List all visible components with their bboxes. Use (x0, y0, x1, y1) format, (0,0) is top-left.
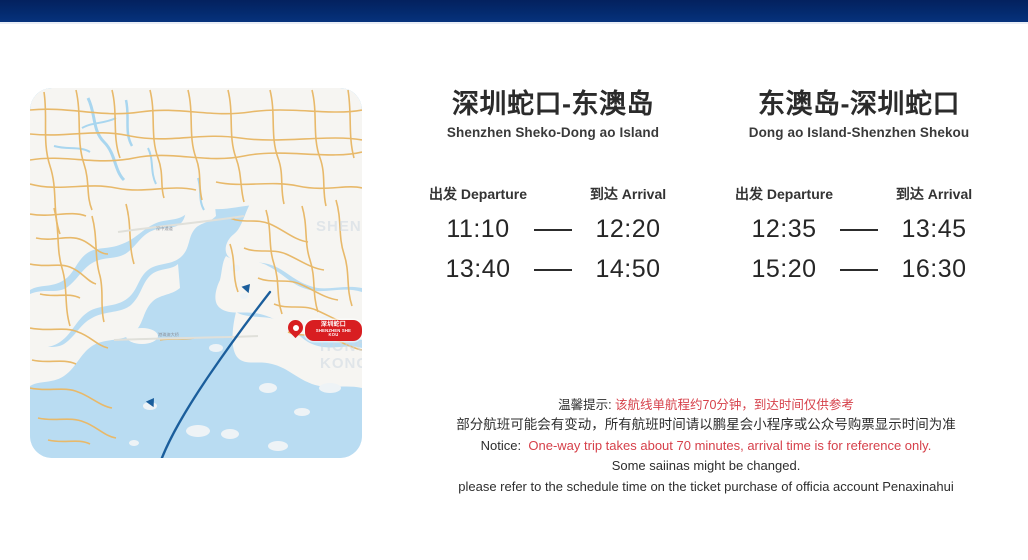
route-title-en-outbound: Shenzhen Sheko-Dong ao Island (400, 125, 706, 140)
top-bar-underline (0, 22, 1028, 24)
route-column-return: 东澳岛-深圳蛇口 Dong ao Island-Shenzhen Shekou … (706, 88, 1012, 284)
departure-header: 出发 Departure (423, 184, 533, 204)
route-title-en-return: Dong ao Island-Shenzhen Shekou (706, 125, 1012, 140)
departure-time: 12:35 (729, 215, 839, 244)
time-connector-icon (533, 269, 573, 271)
arrival-header: 到达 Arrival (879, 184, 989, 204)
time-connector-icon (839, 229, 879, 231)
notice-lead-en: Notice: (481, 438, 521, 453)
route-title-cn-outbound: 深圳蛇口-东澳岛 (400, 88, 706, 120)
notice-line-en-2: Some saiinas might be changed. (400, 456, 1012, 476)
marker-label-en: SHENZHEN SHE KOU (312, 329, 355, 338)
top-navy-bar (0, 0, 1028, 22)
map-pin-icon (288, 320, 303, 341)
schedule-table-return: 出发 Departure 到达 Arrival 12:35 13:45 15:2… (706, 184, 1012, 284)
schedule-row: 12:35 13:45 (706, 215, 1012, 244)
ferry-schedule-page: 深中通道 港珠澳大桥 SHENZHEN HONG KONG 深圳蛇口 SHENZ… (0, 0, 1028, 560)
arrival-time: 12:20 (573, 215, 683, 244)
notice-red-en: One-way trip takes about 70 minutes, arr… (528, 438, 931, 453)
time-connector-icon (533, 229, 573, 231)
departure-header: 出发 Departure (729, 184, 839, 204)
notice-line-cn-1: 温馨提示: 该航线单航程约70分钟，到达时间仅供参考 (400, 396, 1012, 415)
arrival-time: 13:45 (879, 215, 989, 244)
route-schedules: 深圳蛇口-东澳岛 Shenzhen Sheko-Dong ao Island 出… (400, 88, 1012, 284)
arrival-header: 到达 Arrival (573, 184, 683, 204)
svg-text:深中通道: 深中通道 (156, 225, 174, 232)
time-connector-icon (839, 269, 879, 271)
schedule-table-outbound: 出发 Departure 到达 Arrival 11:10 12:20 13:4… (400, 184, 706, 284)
schedule-header-outbound: 出发 Departure 到达 Arrival (400, 184, 706, 204)
map-marker-label-shenzhen-shekou: 深圳蛇口 SHENZHEN SHE KOU (305, 320, 362, 340)
arrival-time: 14:50 (573, 255, 683, 284)
notice-line-en-3: please refer to the schedule time on the… (400, 477, 1012, 497)
route-title-cn-return: 东澳岛-深圳蛇口 (706, 88, 1012, 120)
map-marker-shenzhen-shekou[interactable]: 深圳蛇口 SHENZHEN SHE KOU (288, 320, 362, 341)
notice-red-cn: 该航线单航程约70分钟，到达时间仅供参考 (615, 398, 854, 412)
notice-lead-cn: 温馨提示: (558, 398, 611, 412)
schedule-row: 15:20 16:30 (706, 255, 1012, 284)
route-column-outbound: 深圳蛇口-东澳岛 Shenzhen Sheko-Dong ao Island 出… (400, 88, 706, 284)
schedule-header-return: 出发 Departure 到达 Arrival (706, 184, 1012, 204)
route-map[interactable]: 深中通道 港珠澳大桥 SHENZHEN HONG KONG 深圳蛇口 SHENZ… (30, 88, 362, 458)
departure-time: 13:40 (423, 255, 533, 284)
svg-text:港珠澳大桥: 港珠澳大桥 (158, 331, 180, 338)
notice-line-en-1: Notice: One-way trip takes about 70 minu… (400, 436, 1012, 456)
notice-block: 温馨提示: 该航线单航程约70分钟，到达时间仅供参考 部分航班可能会有变动，所有… (400, 396, 1012, 497)
schedule-row: 11:10 12:20 (400, 215, 706, 244)
departure-time: 11:10 (423, 215, 533, 244)
notice-line-cn-2: 部分航班可能会有变动，所有航班时间请以鹏星会小程序或公众号购票显示时间为准 (400, 415, 1012, 436)
arrival-time: 16:30 (879, 255, 989, 284)
map-graphic: 深中通道 港珠澳大桥 (30, 88, 362, 458)
schedule-row: 13:40 14:50 (400, 255, 706, 284)
departure-time: 15:20 (729, 255, 839, 284)
